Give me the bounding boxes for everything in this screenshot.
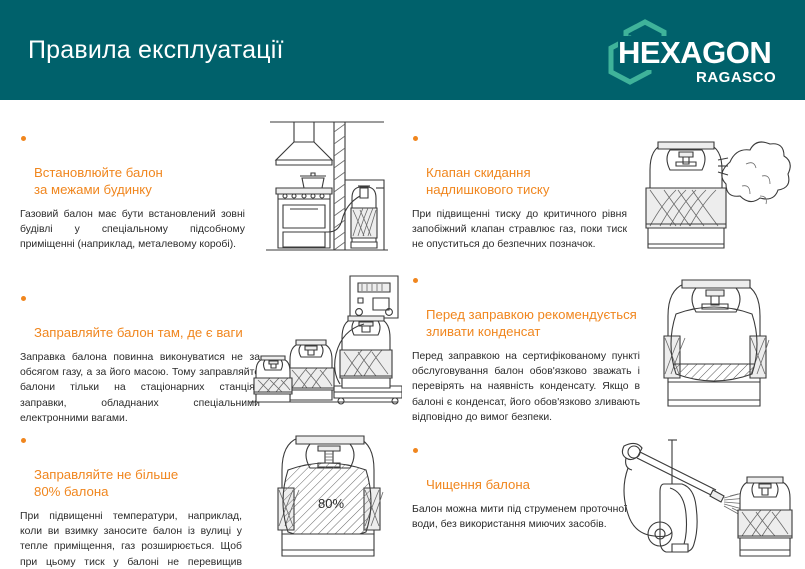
bullet-dot-icon bbox=[413, 136, 418, 141]
section-refill-with-scales: Заправляйте балон там, де є ваги Заправк… bbox=[20, 290, 260, 426]
section-heading-text: Перед заправкою рекомендується зливати к… bbox=[426, 307, 637, 339]
section-heading-text: Заправляйте не більше 80% балона bbox=[34, 467, 178, 499]
section-body: Перед заправкою на сертифікованому пункт… bbox=[412, 349, 640, 425]
illustration-kitchen-stove-with-outdoor-cylinder bbox=[252, 116, 402, 258]
logo-wordmark: HEXAGON bbox=[618, 35, 771, 70]
bullet-dot-icon bbox=[21, 438, 26, 443]
infographic-page: Правила експлуатації HEXAGON RAGASCO Вст… bbox=[0, 0, 805, 569]
section-heading-text: Заправляйте балон там, де є ваги bbox=[34, 325, 243, 340]
bullet-dot-icon bbox=[21, 136, 26, 141]
section-heading: Встановлюйте балон за межами будинку bbox=[20, 130, 245, 198]
section-heading: Заправляйте не більше 80% балона bbox=[20, 432, 242, 500]
illustration-cylinder-filled-80-percent: 80% bbox=[256, 426, 406, 562]
section-body: При підвищенні тиску до критичного рівня… bbox=[412, 207, 627, 253]
section-install-outside: Встановлюйте балон за межами будинку Газ… bbox=[20, 130, 245, 253]
fill-level-label: 80% bbox=[318, 496, 344, 511]
section-body: Заправка балона повинна виконуватися не … bbox=[20, 350, 260, 426]
section-body: Газовий балон має бути встановлений зовн… bbox=[20, 207, 245, 253]
hexagon-ragasco-logo: HEXAGON RAGASCO bbox=[588, 18, 783, 88]
section-heading: Перед заправкою рекомендується зливати к… bbox=[412, 272, 640, 340]
illustration-cylinder-with-condensate bbox=[642, 266, 792, 412]
page-title: Правила експлуатації bbox=[28, 36, 284, 65]
section-drain-condensate: Перед заправкою рекомендується зливати к… bbox=[412, 272, 640, 425]
section-heading-text: Встановлюйте балон за межами будинку bbox=[34, 165, 163, 197]
section-heading: Заправляйте балон там, де є ваги bbox=[20, 290, 260, 341]
bullet-dot-icon bbox=[413, 448, 418, 453]
section-heading: Чищення балона bbox=[412, 442, 627, 493]
section-pressure-relief-valve: Клапан скидання надлишкового тиску При п… bbox=[412, 130, 627, 253]
page-header: Правила експлуатації HEXAGON RAGASCO bbox=[0, 0, 805, 100]
illustration-cylinders-on-electronic-scale bbox=[246, 262, 402, 408]
bullet-dot-icon bbox=[413, 278, 418, 283]
logo-subtitle: RAGASCO bbox=[696, 69, 776, 86]
illustration-pressure-washer-cleaning-cylinder bbox=[620, 422, 802, 568]
illustration-cylinder-releasing-gas bbox=[630, 120, 792, 256]
bullet-dot-icon bbox=[21, 296, 26, 301]
section-body: Балон можна мити під струменем проточної… bbox=[412, 502, 627, 532]
section-body: При підвищенні температури, наприклад, к… bbox=[20, 509, 242, 569]
section-heading-text: Чищення балона bbox=[426, 477, 530, 492]
gas-cloud bbox=[722, 142, 790, 202]
section-heading-text: Клапан скидання надлишкового тиску bbox=[426, 165, 549, 197]
section-heading: Клапан скидання надлишкового тиску bbox=[412, 130, 627, 198]
section-fill-max-80: Заправляйте не більше 80% балона При під… bbox=[20, 432, 242, 569]
section-cleaning: Чищення балона Балон можна мити під стру… bbox=[412, 442, 627, 532]
